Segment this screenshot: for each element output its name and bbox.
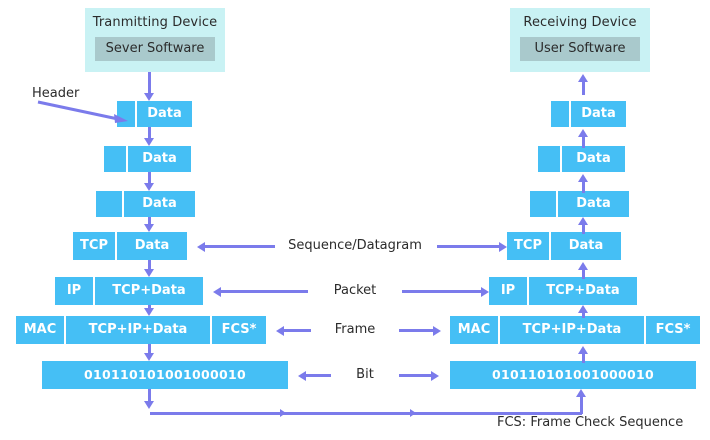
tx-layer-application-3-payload: Data: [124, 191, 195, 217]
pdu-frame-arrow-right: [433, 326, 441, 336]
transmitting-device-title: Tranmitting Device: [85, 14, 225, 32]
tx-layer-transport-header: TCP: [73, 232, 115, 260]
medium-up-arrow: [576, 389, 586, 397]
pdu-label-bit: Bit: [333, 367, 397, 383]
tx-layer-physical-bits: 010110101001000010: [42, 361, 288, 389]
rx-layer-link-payload: TCP+IP+Data: [500, 316, 644, 344]
tx-connector-5-line: [148, 260, 151, 269]
tx-layer-link-payload: TCP+IP+Data: [66, 316, 210, 344]
rx-connector-6-line: [582, 313, 585, 318]
rx-layer-application-1-payload: Data: [571, 101, 626, 127]
pdu-frame-arrow-left: [276, 326, 284, 336]
tx-layer-application-3-header: [96, 191, 122, 217]
tx-connector-3-line: [148, 172, 151, 183]
tx-layer-internet-payload: TCP+Data: [95, 277, 203, 305]
pdu-frame-line-right: [399, 329, 433, 332]
rx-layer-transport-payload: Data: [551, 232, 621, 260]
tx-connector-1-line: [148, 72, 151, 93]
pdu-packet-line-right: [402, 290, 481, 293]
pdu-packet-arrow-left: [213, 287, 221, 297]
tx-layer-application-2-header: [104, 146, 126, 172]
medium-midpoint-arrow-1: [280, 409, 286, 417]
pdu-sequence-arrow-right: [499, 242, 507, 252]
rx-connector-2-line: [582, 137, 585, 148]
tx-layer-application-1-payload: Data: [137, 101, 192, 127]
rx-layer-application-2-header: [538, 146, 560, 172]
rx-connector-1-arrow: [578, 74, 588, 82]
pdu-bit-line-left: [306, 374, 331, 377]
tx-connector-7-arrow: [144, 353, 154, 361]
medium-down-line: [148, 389, 151, 401]
rx-connector-1-line: [582, 82, 585, 95]
rx-connector-7-arrow: [578, 346, 588, 354]
rx-layer-application-3-header: [530, 191, 556, 217]
pdu-label-packet: Packet: [310, 283, 400, 299]
fcs-footnote: FCS: Frame Check Sequence: [497, 415, 683, 431]
pdu-frame-line-left: [284, 329, 311, 332]
rx-layer-application-3-payload: Data: [558, 191, 629, 217]
rx-connector-5-arrow: [578, 262, 588, 270]
rx-connector-4-arrow: [578, 217, 588, 225]
pdu-label-frame: Frame: [313, 322, 397, 338]
rx-layer-application-2-payload: Data: [562, 146, 625, 172]
rx-connector-3-arrow: [578, 174, 588, 182]
tx-layer-link-header: MAC: [16, 316, 64, 344]
tx-connector-6-arrow: [144, 308, 154, 316]
tx-connector-4-arrow: [144, 224, 154, 232]
rx-layer-link-fcs: FCS*: [646, 316, 700, 344]
pdu-bit-line-right: [399, 374, 431, 377]
pdu-sequence-line-left: [205, 245, 275, 248]
rx-connector-2-arrow: [578, 129, 588, 137]
tx-connector-2-line: [148, 127, 151, 138]
rx-layer-internet-payload: TCP+Data: [529, 277, 637, 305]
tx-layer-application-2-payload: Data: [128, 146, 191, 172]
pdu-packet-arrow-right: [481, 287, 489, 297]
medium-down-arrow: [144, 401, 154, 409]
pdu-bit-arrow-left: [298, 371, 306, 381]
transmitting-device-panel: Tranmitting Device Sever Software: [85, 8, 225, 72]
rx-connector-6-arrow: [578, 305, 588, 313]
tx-connector-1-arrow: [144, 93, 154, 101]
rx-connector-3-line: [582, 182, 585, 193]
pdu-packet-line-left: [221, 290, 308, 293]
tx-connector-2-arrow: [144, 138, 154, 146]
pdu-bit-arrow-right: [431, 371, 439, 381]
rx-layer-application-1-header: [551, 101, 569, 127]
rx-layer-link-header: MAC: [450, 316, 498, 344]
server-software-box: Sever Software: [95, 37, 215, 61]
tx-connector-3-arrow: [144, 183, 154, 191]
pdu-sequence-arrow-left: [197, 242, 205, 252]
tx-layer-internet-header: IP: [55, 277, 93, 305]
tx-connector-7-line: [148, 344, 151, 353]
rx-connector-7-line: [582, 354, 585, 363]
receiving-device-panel: Receiving Device User Software: [510, 8, 650, 72]
rx-layer-physical-bits: 010110101001000010: [450, 361, 696, 389]
medium-up-line: [580, 397, 583, 414]
rx-connector-4-line: [582, 225, 585, 234]
tx-layer-transport-payload: Data: [117, 232, 187, 260]
rx-layer-internet-header: IP: [489, 277, 527, 305]
tx-connector-5-arrow: [144, 269, 154, 277]
header-callout-arrow: [36, 100, 130, 126]
tx-connector-4-line: [148, 217, 151, 224]
user-software-box: User Software: [520, 37, 640, 61]
encapsulation-diagram: Tranmitting Device Sever Software Receiv…: [0, 0, 710, 440]
rx-layer-transport-header: TCP: [507, 232, 549, 260]
tx-layer-link-fcs: FCS*: [212, 316, 266, 344]
medium-midpoint-arrow-2: [410, 409, 416, 417]
pdu-label-sequence-datagram: Sequence/Datagram: [277, 238, 433, 254]
rx-connector-5-line: [582, 270, 585, 279]
receiving-device-title: Receiving Device: [510, 14, 650, 32]
pdu-sequence-line-right: [437, 245, 499, 248]
